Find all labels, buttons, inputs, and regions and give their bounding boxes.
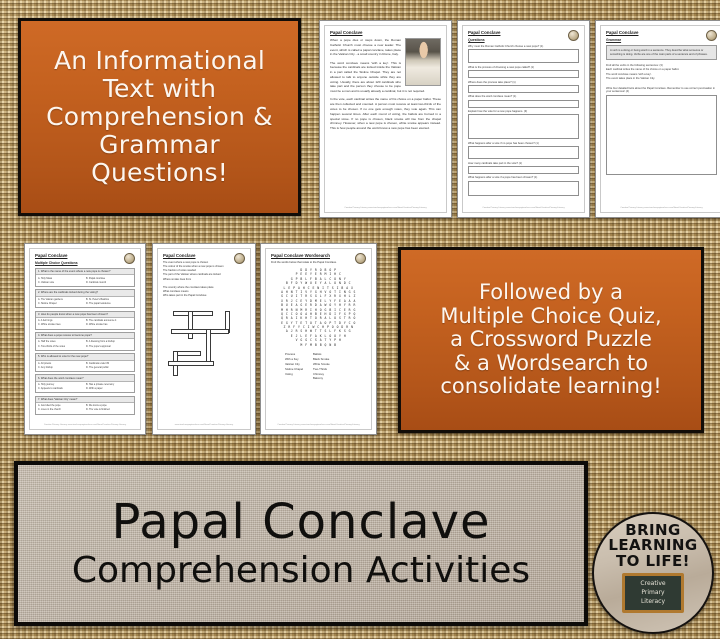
quiz-option-c[interactable]: C. Sistine Chapel: [38, 302, 84, 306]
page-footer: Creative Primary Literacy www.teacherspa…: [607, 207, 716, 209]
hero-banner: An Informational Text with Comprehension…: [18, 18, 301, 216]
product-subtitle: Comprehension Activities: [72, 552, 530, 590]
logo-badge-icon: [234, 253, 245, 264]
page-title: Papal Conclave: [606, 30, 717, 35]
followed-line-2: Multiple Choice Quiz,: [440, 305, 661, 329]
page-subtitle: Questions: [468, 38, 579, 42]
followed-line-4: & a Wordsearch to: [440, 352, 661, 376]
wordsearch-word-list: Process With a Key Vatican City Sistine …: [285, 352, 366, 381]
title-banner: Papal Conclave Comprehension Activities: [14, 461, 588, 626]
quiz-option-c[interactable]: C. Lives in the church: [38, 408, 84, 412]
worksheet-page-grammar[interactable]: Papal Conclave Grammar A verb is a doing…: [595, 20, 720, 218]
answer-field-3[interactable]: [468, 85, 579, 93]
quiz-option-d[interactable]: D. White smoke has: [86, 323, 132, 327]
hero-banner-text: An Informational Text with Comprehension…: [46, 47, 273, 187]
logo-badge-icon: [568, 30, 579, 41]
worksheet-page-crossword[interactable]: Papal Conclave The event where a new pop…: [152, 243, 256, 435]
crossword-word-slot[interactable]: [168, 361, 214, 366]
brand-line-3: Literacy: [641, 597, 665, 606]
hero-line-2: Text with: [46, 75, 273, 103]
hero-line-3: Comprehension &: [46, 103, 273, 131]
quiz-option-c[interactable]: C. Appears to cardinals: [38, 387, 84, 391]
followed-line-5: consolidate learning!: [440, 375, 661, 399]
question-8: What happens after a vote if a pope has …: [468, 176, 579, 179]
quiz-option-c[interactable]: C. Vatican vote: [38, 281, 84, 285]
followed-by-banner: Followed by a Multiple Choice Quiz, a Cr…: [398, 247, 704, 433]
wordsearch-word: Balcony: [313, 376, 330, 381]
hero-line-4: Grammar: [46, 131, 273, 159]
grammar-sentence-2: The word conclave means 'with a key'.: [606, 73, 717, 76]
brand-logo-badge: BRING LEARNING TO LIFE! Creative Primary…: [592, 512, 714, 634]
wordsearch-grid[interactable]: D D Y R O B O P P E E Y E R M I H C G P …: [271, 268, 366, 347]
worksheet-page-wordsearch[interactable]: Papal Conclave Wordsearch Find the words…: [260, 243, 377, 435]
wordsearch-row: B U E A G E R D A W O Y H Y R R: [271, 303, 366, 307]
wordsearch-instruction: Find the words below that relate to the …: [271, 261, 366, 264]
page-footer: Creative Primary Literacy www.teacherspa…: [36, 424, 134, 426]
quiz-option-d[interactable]: D. The vote is finished: [86, 408, 132, 412]
quiz-option-d[interactable]: D. Cardinal council: [86, 281, 132, 285]
question-4: What does the word conclave mean? (1): [468, 95, 579, 98]
hero-line-5: Questions!: [46, 159, 273, 187]
clue-8: Who takes part in the Papal Conclave: [163, 294, 245, 298]
page-subtitle: Multiple Choice Questions: [35, 261, 135, 265]
question-6: What happens after a vote if no pope has…: [468, 142, 579, 145]
answer-field-1[interactable]: [468, 49, 579, 63]
chalkboard-icon: Creative Primary Literacy: [622, 573, 684, 613]
product-title: Papal Conclave: [111, 498, 490, 546]
crossword-grid[interactable]: [163, 303, 245, 381]
answer-field-2[interactable]: [468, 70, 579, 78]
question-3: Where does the process take place? (1): [468, 81, 579, 84]
quiz-option-d[interactable]: D. With a paper: [86, 387, 132, 391]
clue-5: Where smoke rises from: [163, 278, 245, 282]
quiz-item[interactable]: 4. What does a pope receive to become po…: [35, 332, 135, 351]
page-title: Papal Conclave: [35, 253, 135, 258]
crossword-word-slot[interactable]: [173, 311, 213, 316]
chalkboard-text: Creative Primary Literacy: [625, 576, 681, 610]
quiz-option-c[interactable]: C. Any bishop: [38, 366, 84, 370]
wordsearch-words-column-left: Process With a Key Vatican City Sistine …: [285, 352, 303, 381]
answer-field-8[interactable]: [468, 181, 579, 196]
worksheet-page-informational-text[interactable]: Papal Conclave When a pope dies or steps…: [319, 20, 452, 218]
page-title: Papal Conclave: [163, 253, 245, 258]
worksheet-page-questions[interactable]: Papal Conclave Questions Why must the Ro…: [457, 20, 590, 218]
quiz-item[interactable]: 6. What does the word conclave mean? A. …: [35, 374, 135, 393]
answer-field-4[interactable]: [468, 100, 579, 108]
logo-line-3: TO LIFE!: [608, 554, 697, 569]
grammar-infobox: A verb is a doing or being word in a sen…: [606, 45, 717, 60]
quiz-option-d[interactable]: D. The general public: [86, 366, 132, 370]
question-1: Why must the Roman Catholic Church choos…: [468, 45, 579, 48]
page-footer: www.teacherspayteachers.com/Store/Creati…: [164, 424, 244, 426]
followed-by-text: Followed by a Multiple Choice Quiz, a Cr…: [440, 281, 661, 399]
worksheet-page-multiple-choice-quiz[interactable]: Papal Conclave Multiple Choice Questions…: [24, 243, 146, 435]
question-5: Explain how the vote for a new pope happ…: [468, 110, 579, 113]
wordsearch-word: Voting: [285, 372, 303, 377]
answer-field-6[interactable]: [468, 146, 579, 159]
hero-line-1: An Informational: [46, 47, 273, 75]
quiz-item[interactable]: 5. Who is allowed to vote for the new po…: [35, 353, 135, 372]
quiz-item[interactable]: 7. What does 'Vatican City' mean? A. God…: [35, 396, 135, 415]
brand-line-1: Creative: [640, 579, 665, 588]
paragraph-3: In the vote, each cardinal writes the na…: [330, 97, 441, 130]
crossword-word-slot[interactable]: [188, 311, 193, 339]
quiz-item[interactable]: 1. What is the name of the event where a…: [35, 268, 135, 287]
brand-line-2: Primary: [641, 588, 664, 597]
wordsearch-words-column-right: Ballots Black Smoke White Smoke Two-Thir…: [313, 352, 330, 381]
quiz-item[interactable]: 3. How do people know when a new pope ha…: [35, 311, 135, 330]
grammar-sentence-3: The event takes place in the Vatican Cit…: [606, 77, 717, 80]
question-2: What is the process of choosing a new po…: [468, 66, 579, 69]
wordsearch-word: White Smoke: [313, 362, 330, 367]
grammar-answer-field[interactable]: [606, 95, 717, 175]
grammar-task-1: Find all the verbs in the following sent…: [606, 64, 717, 67]
page-footer: Creative Primary Literacy www.teacherspa…: [272, 424, 365, 426]
quiz-option-c[interactable]: C. White smoke rises: [38, 323, 84, 327]
pope-photo-image: [405, 38, 441, 86]
followed-line-3: a Crossword Puzzle: [440, 328, 661, 352]
crossword-word-slot[interactable]: [206, 329, 211, 365]
crossword-word-slot[interactable]: [171, 329, 229, 334]
page-title: Papal Conclave: [330, 30, 441, 35]
answer-field-7[interactable]: [468, 166, 579, 174]
answer-field-5[interactable]: [468, 114, 579, 139]
quiz-option-d[interactable]: D. The pope's approval: [86, 345, 132, 349]
logo-badge-icon: [124, 253, 135, 264]
page-title: Papal Conclave: [468, 30, 579, 35]
page-footer: Creative Primary Literacy www.teacherspa…: [469, 207, 578, 209]
followed-line-1: Followed by a: [440, 281, 661, 305]
logo-badge-icon: [355, 253, 366, 264]
wordsearch-word: Sistine Chapel: [285, 367, 303, 372]
page-title: Papal Conclave Wordsearch: [271, 253, 366, 258]
logo-tagline: BRING LEARNING TO LIFE!: [608, 523, 697, 569]
page-subtitle: Grammar: [606, 38, 717, 42]
logo-badge-icon: [706, 30, 717, 41]
quiz-option-c[interactable]: C. Two-thirds of the votes: [38, 345, 84, 349]
question-7: How many cardinals take part in the vote…: [468, 162, 579, 165]
quiz-option-d[interactable]: D. The papal residence: [86, 302, 132, 306]
grammar-sentence-1: Each cardinal writes the name of his cho…: [606, 68, 717, 71]
wordsearch-row: M F M B B Q N B: [271, 343, 366, 347]
page-footer: Creative Primary Literacy www.teacherspa…: [331, 207, 440, 209]
grammar-task-2: Write four detailed facts about the Papa…: [606, 87, 717, 93]
quiz-item[interactable]: 2. Where are the cardinals locked during…: [35, 289, 135, 308]
